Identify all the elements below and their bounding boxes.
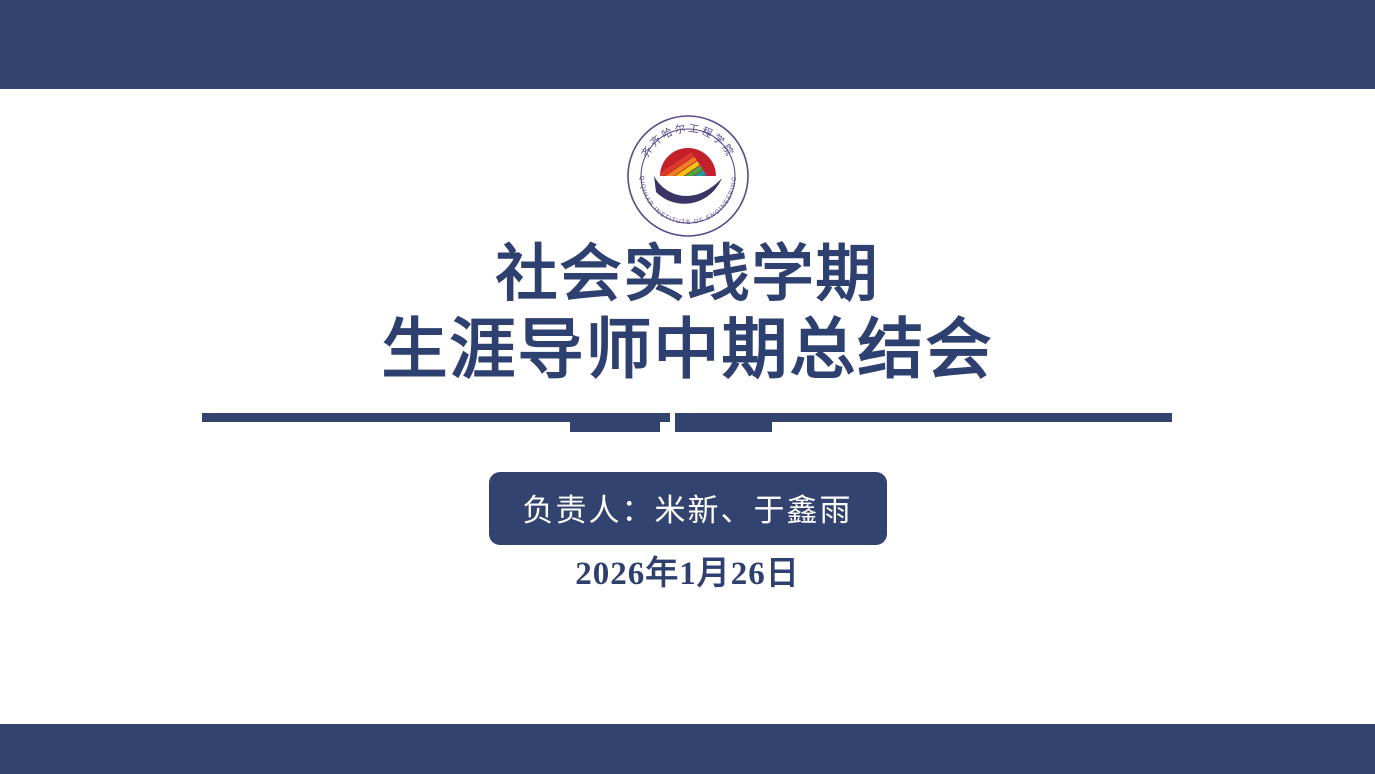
page-title: 社会实践学期 生涯导师中期总结会 (0, 238, 1375, 389)
bottom-navy-band (0, 724, 1375, 774)
presentation-date: 2026年1月26日 (0, 546, 1375, 594)
top-navy-band (0, 0, 1375, 89)
title-slide: 齐齐哈尔工程学院 QIQIHAR INSTITUTE OF ENGINEERIN… (0, 0, 1375, 774)
title-line-2: 生涯导师中期总结会 (0, 311, 1375, 389)
divider-block-right (675, 413, 772, 432)
date-container: 2026年1月26日 (0, 546, 1375, 594)
title-line-1: 社会实践学期 (0, 238, 1375, 311)
decorative-divider (202, 413, 1172, 435)
divider-block-left (570, 413, 660, 432)
university-seal-icon: 齐齐哈尔工程学院 QIQIHAR INSTITUTE OF ENGINEERIN… (626, 114, 750, 238)
university-logo-container: 齐齐哈尔工程学院 QIQIHAR INSTITUTE OF ENGINEERIN… (0, 114, 1375, 238)
presenter-badge: 负责人：米新、于鑫雨 (489, 472, 887, 545)
presenter-badge-container: 负责人：米新、于鑫雨 (0, 472, 1375, 545)
